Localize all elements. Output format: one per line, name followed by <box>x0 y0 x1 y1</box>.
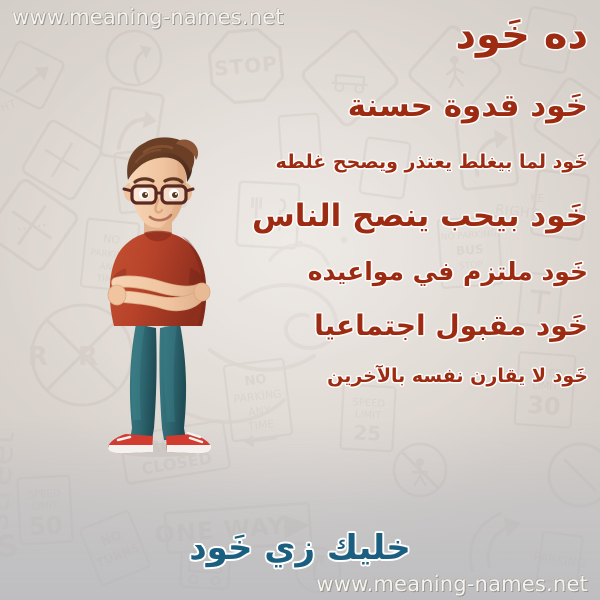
trait-line-4: خَود ملتزم في مواعيده <box>168 259 588 285</box>
trait-line-1: خَود قدوة حسنة <box>168 90 588 123</box>
svg-text:SPEED: SPEED <box>28 488 62 501</box>
svg-text:LIMIT: LIMIT <box>31 500 59 512</box>
page-title: ده خَود <box>168 14 588 56</box>
svg-text:PARKING: PARKING <box>233 387 283 406</box>
name-meaning-card: RIGHT STOP <box>0 0 600 600</box>
trait-line-3: خَود بيحب ينصح الناس <box>168 200 588 233</box>
trait-line-5: خَود مقبول اجتماعيا <box>168 311 588 340</box>
svg-text:LIMIT: LIMIT <box>355 409 383 421</box>
svg-text:SPEED: SPEED <box>352 397 386 410</box>
svg-text:TIME: TIME <box>246 417 275 433</box>
footer-tagline: خليك زي خَود <box>0 528 600 568</box>
svg-text:30: 30 <box>526 391 561 421</box>
traits-text-column: ده خَود خَود قدوة حسنة خَود لما بيغلط يع… <box>168 14 588 387</box>
svg-text:25: 25 <box>353 420 382 445</box>
trait-line-6: خَود لا يقارن نفسه بالآخرين <box>168 367 588 387</box>
svg-text:RIGHT: RIGHT <box>0 97 18 121</box>
svg-text:ANY: ANY <box>247 404 271 420</box>
svg-text:street: street <box>0 430 23 532</box>
trait-line-2: خَود لما بيغلط يعتذر ويصحح غلطه <box>168 153 588 173</box>
svg-text:R: R <box>28 342 48 372</box>
watermark-bottom: www.meaning-names.net <box>316 572 588 596</box>
